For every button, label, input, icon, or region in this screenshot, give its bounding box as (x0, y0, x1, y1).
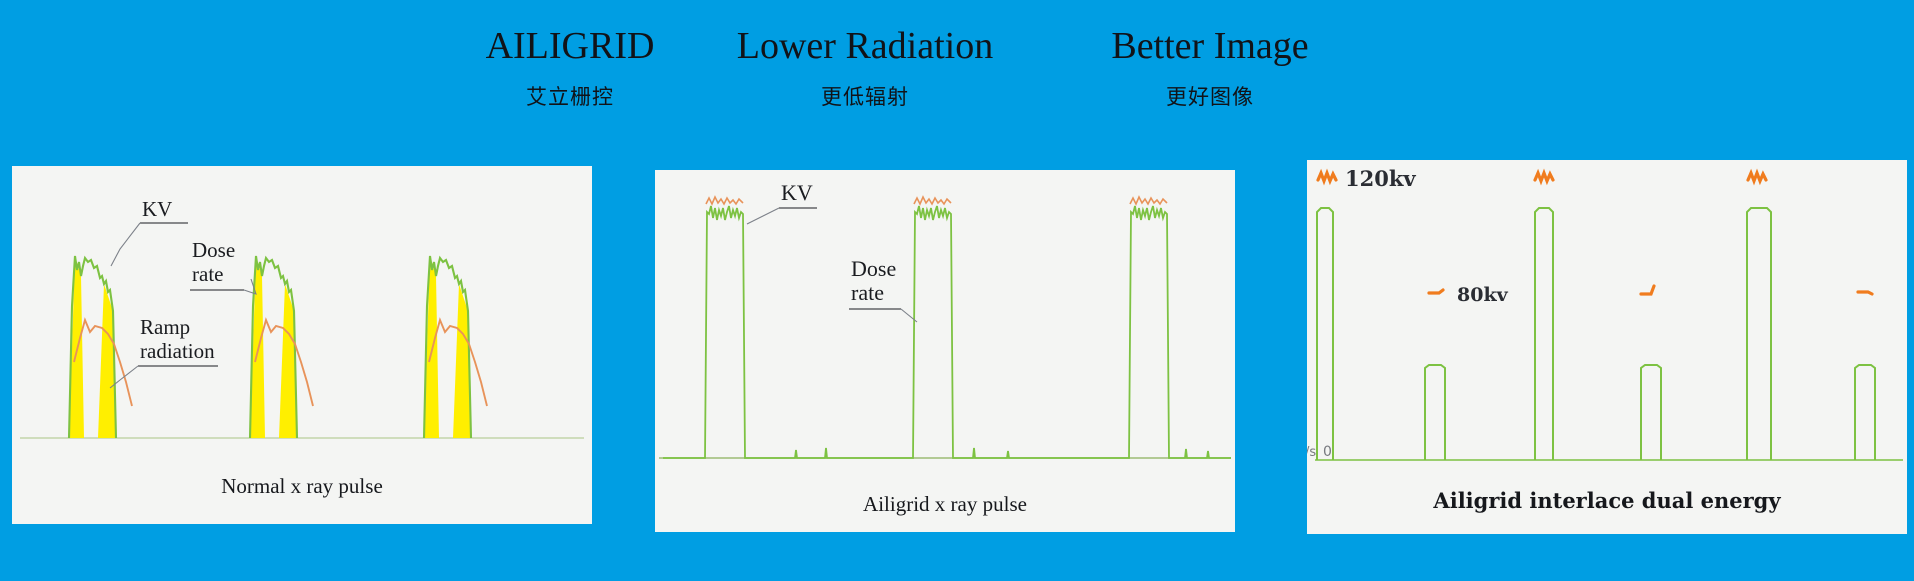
marker-80kv-icon-3 (1858, 292, 1872, 294)
kv-noise-cap-2 (914, 197, 951, 204)
annotation-kv: KV (747, 180, 817, 224)
annotation-ramp-radiation: Ramp radiation (110, 315, 218, 388)
header-title-en-2: Better Image (1055, 26, 1365, 68)
chart-normal-x-ray-pulse: KV Dose rate Ramp radiation (12, 166, 592, 464)
dose-rate-pulse-1 (663, 206, 861, 458)
annotation-dose-rate-line2: rate (192, 262, 223, 286)
annotation-ramp-line2: radiation (140, 339, 215, 363)
annotation-kv-label: KV (781, 180, 813, 205)
pulse-120kv-1 (1317, 208, 1333, 460)
pulse-80kv-1 (1425, 365, 1445, 460)
kv-noise-cap-1 (706, 197, 743, 204)
annotation-dose-rate: Dose rate (849, 256, 917, 322)
panel-caption-normal: Normal x ray pulse (12, 474, 592, 499)
legend-label-80kv: 80kv (1457, 284, 1509, 306)
annotation-dose-rate: Dose rate (190, 238, 256, 294)
pulse-120kv-3 (1747, 208, 1771, 460)
marker-120kv-icon-1 (1318, 173, 1336, 181)
chart-panel-ailigrid-x-ray-pulse: KV Dose rate Ailigrid x ray pulse (655, 170, 1235, 532)
annotation-dose-rate-line1: Dose (851, 256, 896, 281)
pulse-120kv-2 (1535, 208, 1553, 460)
marker-120kv-icon-2 (1535, 173, 1553, 181)
header-title-cn-1: 更低辐射 (700, 81, 1030, 111)
annotation-dose-rate-line2: rate (851, 280, 884, 305)
axis-tick-zero: 0 (1323, 444, 1332, 460)
header-column-ailigrid: AILIGRID 艾立栅控 (430, 26, 710, 111)
marker-80kv-icon-2 (1641, 286, 1654, 294)
annotation-kv-label: KV (142, 197, 172, 221)
pulse-80kv-2 (1641, 365, 1661, 460)
annotation-kv-leader (747, 208, 779, 224)
axis-unit-label: /s (1307, 445, 1316, 460)
dose-rate-pulse-3 (1055, 206, 1231, 458)
header-title-en-0: AILIGRID (430, 26, 710, 68)
header-title-en-1: Lower Radiation (700, 26, 1030, 68)
header-column-lower-radiation: Lower Radiation 更低辐射 (700, 26, 1030, 111)
header-banner: AILIGRID 艾立栅控 Lower Radiation 更低辐射 Bette… (0, 26, 1914, 126)
legend-label-120kv: 120kv (1345, 166, 1416, 191)
header-title-cn-2: 更好图像 (1055, 81, 1365, 111)
header-title-cn-0: 艾立栅控 (430, 81, 710, 111)
panel-caption-interlace: Ailigrid interlace dual energy (1307, 488, 1907, 513)
header-column-better-image: Better Image 更好图像 (1055, 26, 1365, 111)
annotation-kv-leader (111, 223, 140, 266)
chart-ailigrid-x-ray-pulse: KV Dose rate (655, 170, 1235, 480)
annotation-kv: KV (111, 197, 188, 266)
marker-120kv-icon-3 (1748, 173, 1766, 181)
kv-noise-cap-3 (1130, 197, 1167, 204)
chart-panel-normal-x-ray-pulse: KV Dose rate Ramp radiation Normal x ray… (12, 166, 592, 524)
marker-80kv-icon-1 (1429, 290, 1443, 293)
pulse-80kv-3 (1855, 365, 1875, 460)
panel-caption-ailigrid: Ailigrid x ray pulse (655, 492, 1235, 517)
annotation-dose-rate-line1: Dose (192, 238, 235, 262)
annotation-ramp-line1: Ramp (140, 315, 190, 339)
chart-panel-interlace-dual-energy: 120kv 80kv /s 0 Ailigrid interlace dual … (1307, 160, 1907, 534)
chart-interlace-dual-energy: 120kv 80kv /s 0 (1307, 160, 1907, 476)
dose-rate-pulse-2 (861, 206, 1055, 458)
